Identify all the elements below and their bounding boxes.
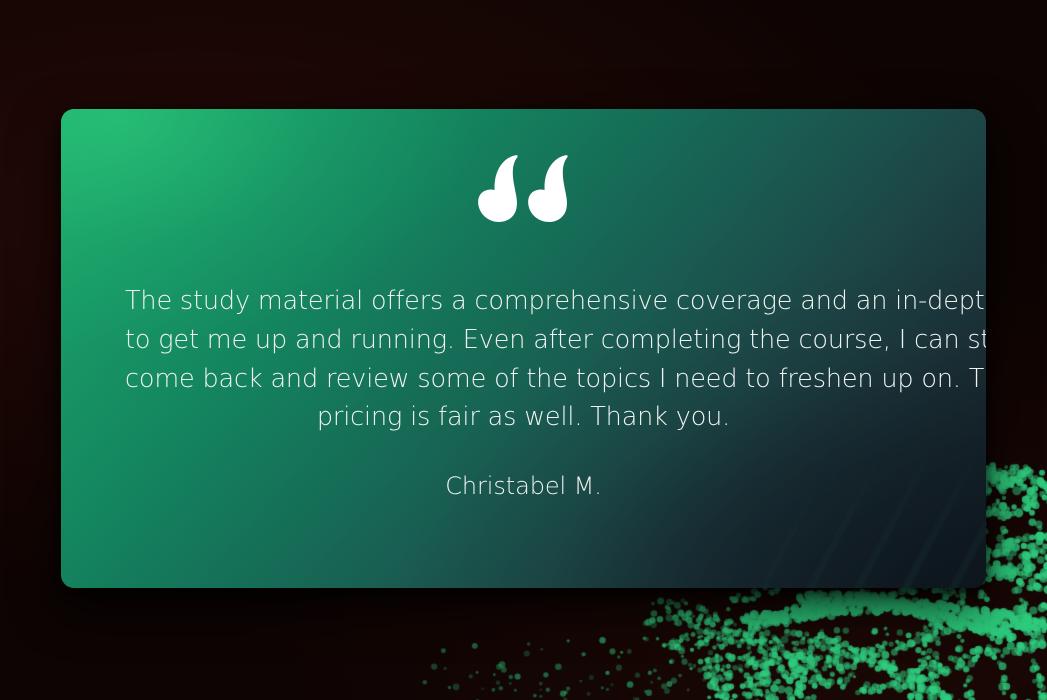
testimonial-quote: The study material offers a comprehensiv… [61,282,986,437]
quote-line-3: come back and review some of the topics … [125,360,922,399]
testimonial-stage: The study material offers a comprehensiv… [0,0,1047,700]
double-quote-icon [61,152,986,240]
testimonial-card: The study material offers a comprehensiv… [61,109,986,588]
quote-line-1: The study material offers a comprehensiv… [125,282,922,321]
testimonial-author: Christabel M. [61,472,986,500]
quote-line-2: to get me up and running. Even after com… [125,321,922,360]
quote-line-4: pricing is fair as well. Thank you. [125,398,922,437]
card-content: The study material offers a comprehensiv… [61,109,986,588]
